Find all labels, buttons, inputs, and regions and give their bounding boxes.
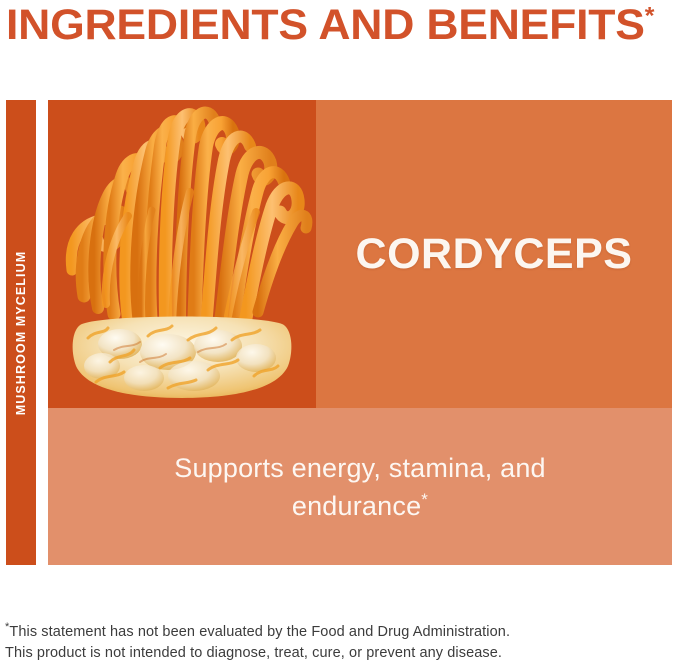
ingredient-card: CORDYCEPS Supports energy, stamina, and … (48, 100, 672, 565)
category-bar: MUSHROOM MYCELIUM (6, 100, 36, 565)
page-title-asterisk: * (645, 3, 654, 30)
fda-disclaimer: *This statement has not been evaluated b… (5, 622, 605, 664)
cordyceps-photo (48, 100, 316, 408)
card-top-row: CORDYCEPS (48, 100, 672, 408)
cordyceps-mycelium-base (73, 317, 292, 399)
benefit-text: Supports energy, stamina, and endurance* (115, 449, 605, 525)
benefit-band: Supports energy, stamina, and endurance* (48, 408, 672, 565)
disclaimer-line-1-text: This statement has not been evaluated by… (9, 624, 510, 640)
category-bar-label: MUSHROOM MYCELIUM (14, 250, 28, 415)
disclaimer-line-2: This product is not intended to diagnose… (5, 643, 605, 664)
benefit-line-1: Supports energy, stamina, (174, 453, 492, 483)
disclaimer-line-1: *This statement has not been evaluated b… (5, 622, 605, 643)
page-title: INGREDIENTS AND BENEFITS* (6, 2, 679, 48)
ingredient-name: CORDYCEPS (356, 233, 633, 276)
ingredient-name-panel: CORDYCEPS (316, 100, 672, 408)
page-title-text: INGREDIENTS AND BENEFITS (6, 1, 645, 49)
cordyceps-illustration (48, 100, 316, 408)
benefit-asterisk: * (421, 490, 428, 509)
